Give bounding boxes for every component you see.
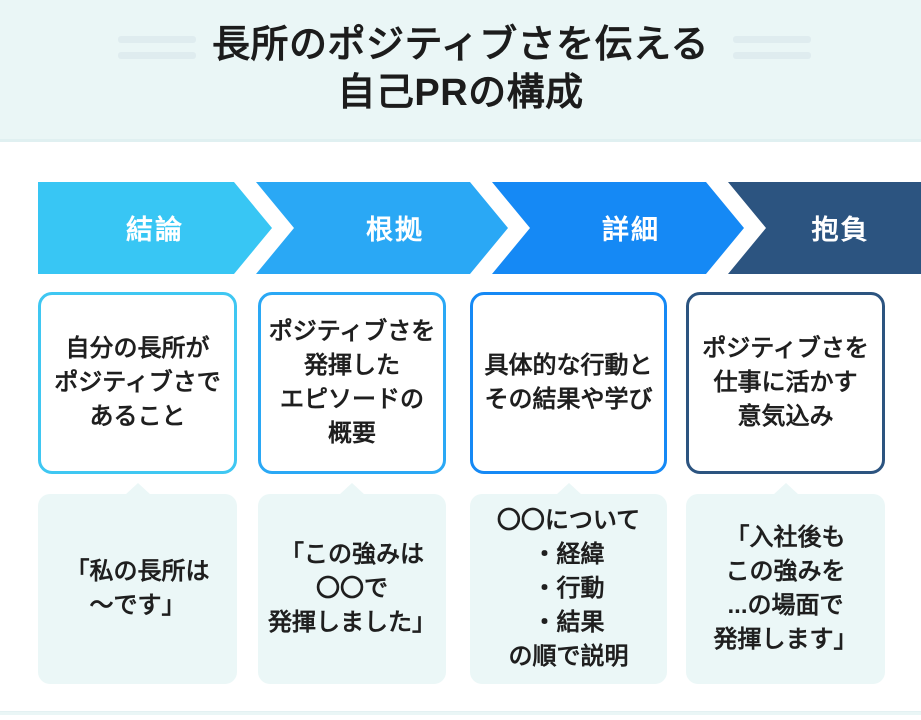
step-example-bubble-3-text: 〇〇について・経緯・行動・結果の順で説明 [493, 504, 644, 674]
chevron-step-3: 詳細 [492, 182, 744, 274]
step-card-3-text: 具体的な行動とその結果や学び [481, 349, 657, 417]
step-card-1: 自分の長所がポジティブさであること [38, 292, 237, 474]
chevron-step-4: 抱負 [728, 182, 921, 274]
step-card-4: ポジティブさを仕事に活かす意気込み [686, 292, 885, 474]
step-example-bubble-1-text: 「私の長所は〜です」 [62, 555, 214, 623]
step-example-bubble-2-text: 「この強みは〇〇で発揮しました」 [264, 538, 440, 640]
chevron-step-1: 結論 [38, 182, 272, 274]
chevron-step-3-label: 詳細 [602, 208, 660, 247]
header-band: 長所のポジティブさを伝える 自己PRの構成 [0, 0, 921, 142]
page-title-line-2: 自己PRの構成 [0, 69, 921, 117]
step-card-2: ポジティブさを発揮したエピソードの概要 [258, 292, 446, 474]
step-card-1-text: 自分の長所がポジティブさであること [50, 332, 225, 434]
chevron-step-row: 結論 根拠 詳細 抱負 [38, 182, 888, 274]
step-example-bubble-4: 「入社後もこの強みを...の場面で発揮します」 [686, 494, 885, 684]
step-card-3: 具体的な行動とその結果や学び [470, 292, 667, 474]
step-example-bubble-4-text: 「入社後もこの強みを...の場面で発揮します」 [710, 521, 862, 657]
step-card-2-text: ポジティブさを発揮したエピソードの概要 [265, 315, 440, 451]
page-title: 長所のポジティブさを伝える 自己PRの構成 [0, 21, 921, 117]
bottom-divider [0, 711, 921, 715]
chevron-step-2: 根拠 [256, 182, 508, 274]
flow-diagram: 結論 根拠 詳細 抱負 自分の長所がポジティブさであること ポジティブさを発揮し… [0, 142, 921, 720]
step-example-bubble-3: 〇〇について・経緯・行動・結果の順で説明 [470, 494, 667, 684]
page-title-line-1: 長所のポジティブさを伝える [0, 21, 921, 69]
chevron-step-4-label: 抱負 [812, 208, 870, 247]
chevron-step-2-label: 根拠 [366, 208, 424, 247]
step-example-bubble-2: 「この強みは〇〇で発揮しました」 [258, 494, 446, 684]
chevron-step-1-label: 結論 [126, 208, 184, 247]
step-example-bubble-1: 「私の長所は〜です」 [38, 494, 237, 684]
step-card-4-text: ポジティブさを仕事に活かす意気込み [698, 332, 873, 434]
